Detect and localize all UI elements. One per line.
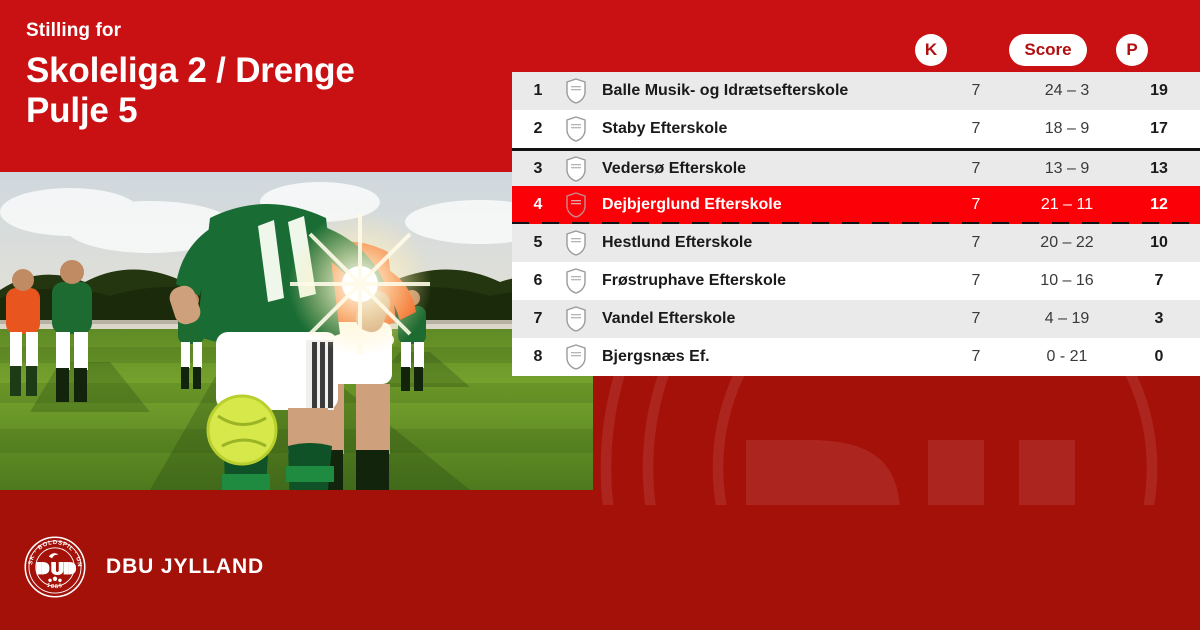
- table-row[interactable]: 1 Balle Musik- og Idrætsefterskole 7 24 …: [512, 72, 1200, 110]
- row-k: 7: [944, 348, 1008, 366]
- row-score: 24 – 3: [1008, 82, 1126, 100]
- team-shield-icon: [554, 78, 598, 104]
- row-team: Frøstruphave Efterskole: [598, 272, 944, 290]
- row-points: 13: [1126, 160, 1200, 178]
- team-shield-icon: [554, 306, 598, 332]
- row-k: 7: [944, 82, 1008, 100]
- team-shield-icon: [554, 268, 598, 294]
- table-row[interactable]: 7 Vandel Efterskole 7 4 – 19 3: [512, 300, 1200, 338]
- team-shield-icon: [554, 344, 598, 370]
- row-rank: 5: [512, 234, 554, 252]
- team-shield-icon: [554, 192, 598, 218]
- standings-table: K Score P 1 Balle Musik- og Idrætsefters…: [512, 34, 1200, 376]
- table-row[interactable]: 2 Staby Efterskole 7 18 – 9 17: [512, 110, 1200, 148]
- team-shield-icon: [554, 230, 598, 256]
- row-score: 13 – 9: [1008, 160, 1126, 178]
- svg-text:· 1889 ·: · 1889 ·: [40, 580, 69, 590]
- team-shield-icon: [554, 116, 598, 142]
- brand-name: DBU JYLLAND: [106, 555, 264, 579]
- row-team: Balle Musik- og Idrætsefterskole: [598, 82, 944, 100]
- row-k: 7: [944, 234, 1008, 252]
- row-score: 20 – 22: [1008, 234, 1126, 252]
- row-team: Dejbjerglund Efterskole: [598, 196, 944, 214]
- row-k: 7: [944, 120, 1008, 138]
- row-points: 0: [1126, 348, 1200, 366]
- row-k: 7: [944, 272, 1008, 290]
- row-points: 10: [1126, 234, 1200, 252]
- row-points: 17: [1126, 120, 1200, 138]
- league-title: Skoleliga 2 / Drenge: [26, 51, 496, 92]
- row-points: 7: [1126, 272, 1200, 290]
- row-score: 4 – 19: [1008, 310, 1126, 328]
- title-block: Stilling for Skoleliga 2 / Drenge Pulje …: [26, 20, 496, 132]
- table-row[interactable]: 8 Bjergsnæs Ef. 7 0 - 21 0: [512, 338, 1200, 376]
- team-shield-icon: [554, 156, 598, 182]
- column-header-k[interactable]: K: [915, 34, 947, 66]
- table-row[interactable]: 3 Vedersø Efterskole 7 13 – 9 13: [512, 148, 1200, 186]
- row-points: 12: [1126, 196, 1200, 214]
- standings-rows: 1 Balle Musik- og Idrætsefterskole 7 24 …: [512, 72, 1200, 376]
- row-points: 3: [1126, 310, 1200, 328]
- row-rank: 8: [512, 348, 554, 366]
- row-k: 7: [944, 310, 1008, 328]
- row-team: Vedersø Efterskole: [598, 160, 944, 178]
- row-rank: 2: [512, 120, 554, 138]
- row-team: Staby Efterskole: [598, 120, 944, 138]
- row-k: 7: [944, 160, 1008, 178]
- row-rank: 4: [512, 196, 554, 214]
- row-rank: 7: [512, 310, 554, 328]
- row-score: 10 – 16: [1008, 272, 1126, 290]
- column-headers: K Score P: [512, 34, 1200, 72]
- dbu-crest-icon: DANSK · BOLDSPIL · UNION · 1889 ·: [24, 536, 86, 598]
- row-score: 21 – 11: [1008, 196, 1126, 214]
- row-score: 18 – 9: [1008, 120, 1126, 138]
- column-header-score[interactable]: Score: [1009, 34, 1087, 66]
- row-team: Vandel Efterskole: [598, 310, 944, 328]
- table-row-highlighted[interactable]: 4 Dejbjerglund Efterskole 7 21 – 11 12: [512, 186, 1200, 224]
- pool-title: Pulje 5: [26, 91, 496, 132]
- footer-bar: DANSK · BOLDSPIL · UNION · 1889 · DBU JY…: [0, 505, 1200, 630]
- row-k: 7: [944, 196, 1008, 214]
- row-rank: 3: [512, 160, 554, 178]
- football-match-photo-icon: [0, 172, 593, 490]
- row-team: Hestlund Efterskole: [598, 234, 944, 252]
- row-team: Bjergsnæs Ef.: [598, 348, 944, 366]
- row-score: 0 - 21: [1008, 348, 1126, 366]
- row-points: 19: [1126, 82, 1200, 100]
- eyebrow-label: Stilling for: [26, 20, 496, 43]
- table-row[interactable]: 6 Frøstruphave Efterskole 7 10 – 16 7: [512, 262, 1200, 300]
- row-rank: 1: [512, 82, 554, 100]
- column-header-p[interactable]: P: [1116, 34, 1148, 66]
- table-row[interactable]: 5 Hestlund Efterskole 7 20 – 22 10: [512, 224, 1200, 262]
- brand-lockup: DANSK · BOLDSPIL · UNION · 1889 · DBU JY…: [24, 536, 264, 598]
- row-rank: 6: [512, 272, 554, 290]
- match-photo: [0, 172, 593, 490]
